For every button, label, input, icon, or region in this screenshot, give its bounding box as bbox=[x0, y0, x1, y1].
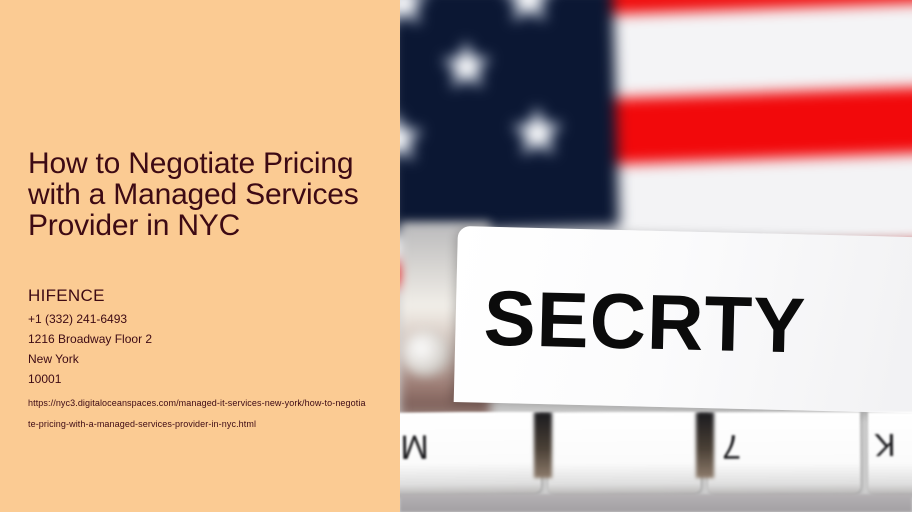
key-glyph-k: K bbox=[874, 426, 896, 463]
social-share-card: How to Negotiate Pricing with a Managed … bbox=[0, 0, 912, 512]
flag-star-icon: ★ bbox=[498, 0, 559, 32]
keyboard-key: 7 bbox=[708, 412, 860, 494]
contact-city: New York bbox=[28, 352, 79, 366]
security-sign-card: SECRTY bbox=[454, 226, 912, 413]
flag-star-icon: ★ bbox=[400, 0, 433, 35]
keyboard-key: K bbox=[868, 412, 912, 494]
contact-zip: 10001 bbox=[28, 372, 61, 386]
key-glyph-7: 7 bbox=[722, 426, 741, 465]
contact-street: 1216 Broadway Floor 2 bbox=[28, 332, 152, 346]
key-gap-shadow bbox=[534, 412, 552, 478]
flag-canton: ★ ★ ★ ★ ★ bbox=[400, 0, 619, 234]
source-url[interactable]: https://nyc3.digitaloceanspaces.com/mana… bbox=[28, 393, 368, 435]
flag-star-icon: ★ bbox=[400, 106, 427, 172]
flag-star-icon: ★ bbox=[438, 34, 495, 98]
text-panel: How to Negotiate Pricing with a Managed … bbox=[0, 0, 400, 512]
hero-photo: ★ ★ ★ ★ ★ SECRTY M 7 K bbox=[400, 0, 912, 512]
key-gap-shadow bbox=[696, 412, 714, 478]
sign-text: SECRTY bbox=[483, 279, 807, 365]
key-glyph-m: M bbox=[400, 426, 429, 465]
flag-star-icon: ★ bbox=[508, 100, 567, 166]
contact-phone: +1 (332) 241-6493 bbox=[28, 312, 127, 326]
desk-surface bbox=[400, 494, 912, 512]
keyboard-key: M bbox=[400, 412, 541, 495]
brand-name: HIFENCE bbox=[28, 286, 105, 306]
keyboard-key bbox=[548, 412, 701, 495]
blurred-light-blob bbox=[402, 330, 450, 376]
page-title: How to Negotiate Pricing with a Managed … bbox=[28, 148, 380, 241]
